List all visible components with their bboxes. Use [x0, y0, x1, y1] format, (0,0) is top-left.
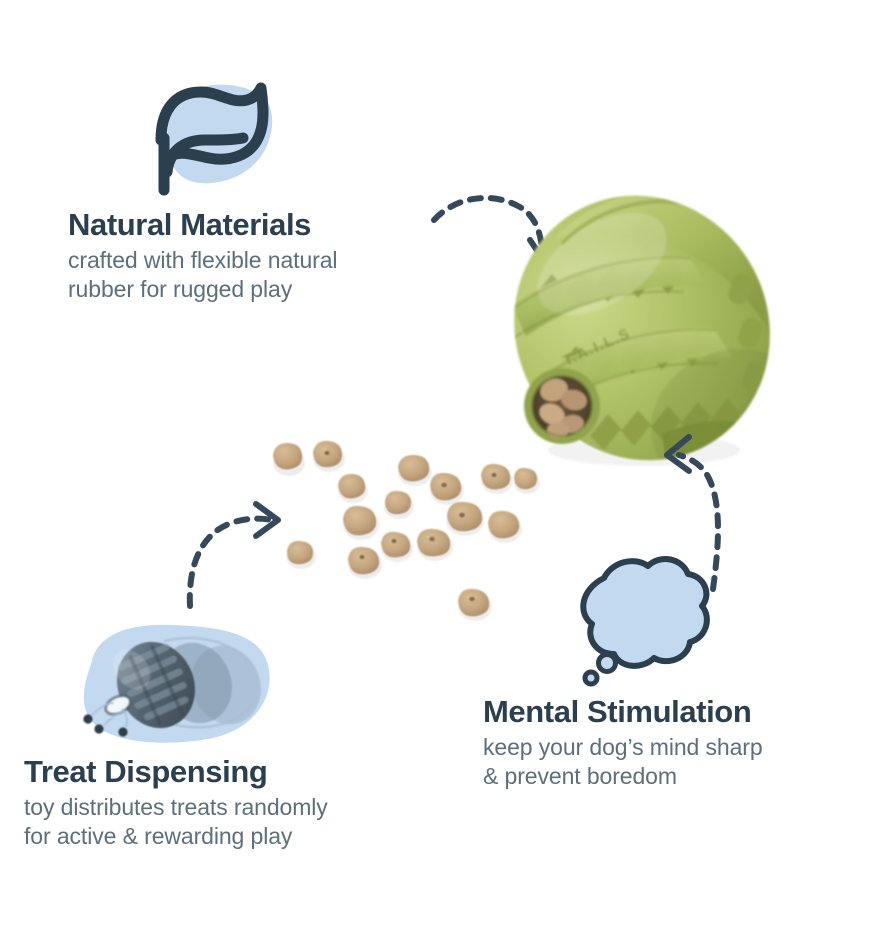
arrow-to-treats-icon	[180, 498, 295, 613]
thought-bubble-icon	[560, 550, 715, 695]
feature-mental-stimulation: Mental Stimulation keep your dog’s mind …	[483, 695, 763, 791]
scattered-dog-treats	[255, 425, 555, 630]
feature-description-natural-materials: crafted with flexible natural rubber for…	[68, 246, 337, 304]
feature-description-treat-dispensing: toy distributes treats randomly for acti…	[24, 793, 328, 851]
feature-title-natural-materials: Natural Materials	[68, 208, 337, 243]
feature-title-mental-stimulation: Mental Stimulation	[483, 695, 763, 730]
feature-natural-materials: Natural Materials crafted with flexible …	[68, 208, 337, 304]
toy-motion-icon	[70, 615, 280, 755]
feature-description-mental-stimulation: keep your dog’s mind sharp & prevent bor…	[483, 733, 763, 791]
infographic-canvas: Natural Materials crafted with flexible …	[0, 0, 890, 926]
feature-title-treat-dispensing: Treat Dispensing	[24, 755, 328, 790]
feature-treat-dispensing: Treat Dispensing toy distributes treats …	[24, 755, 328, 851]
leaf-icon	[143, 78, 278, 200]
